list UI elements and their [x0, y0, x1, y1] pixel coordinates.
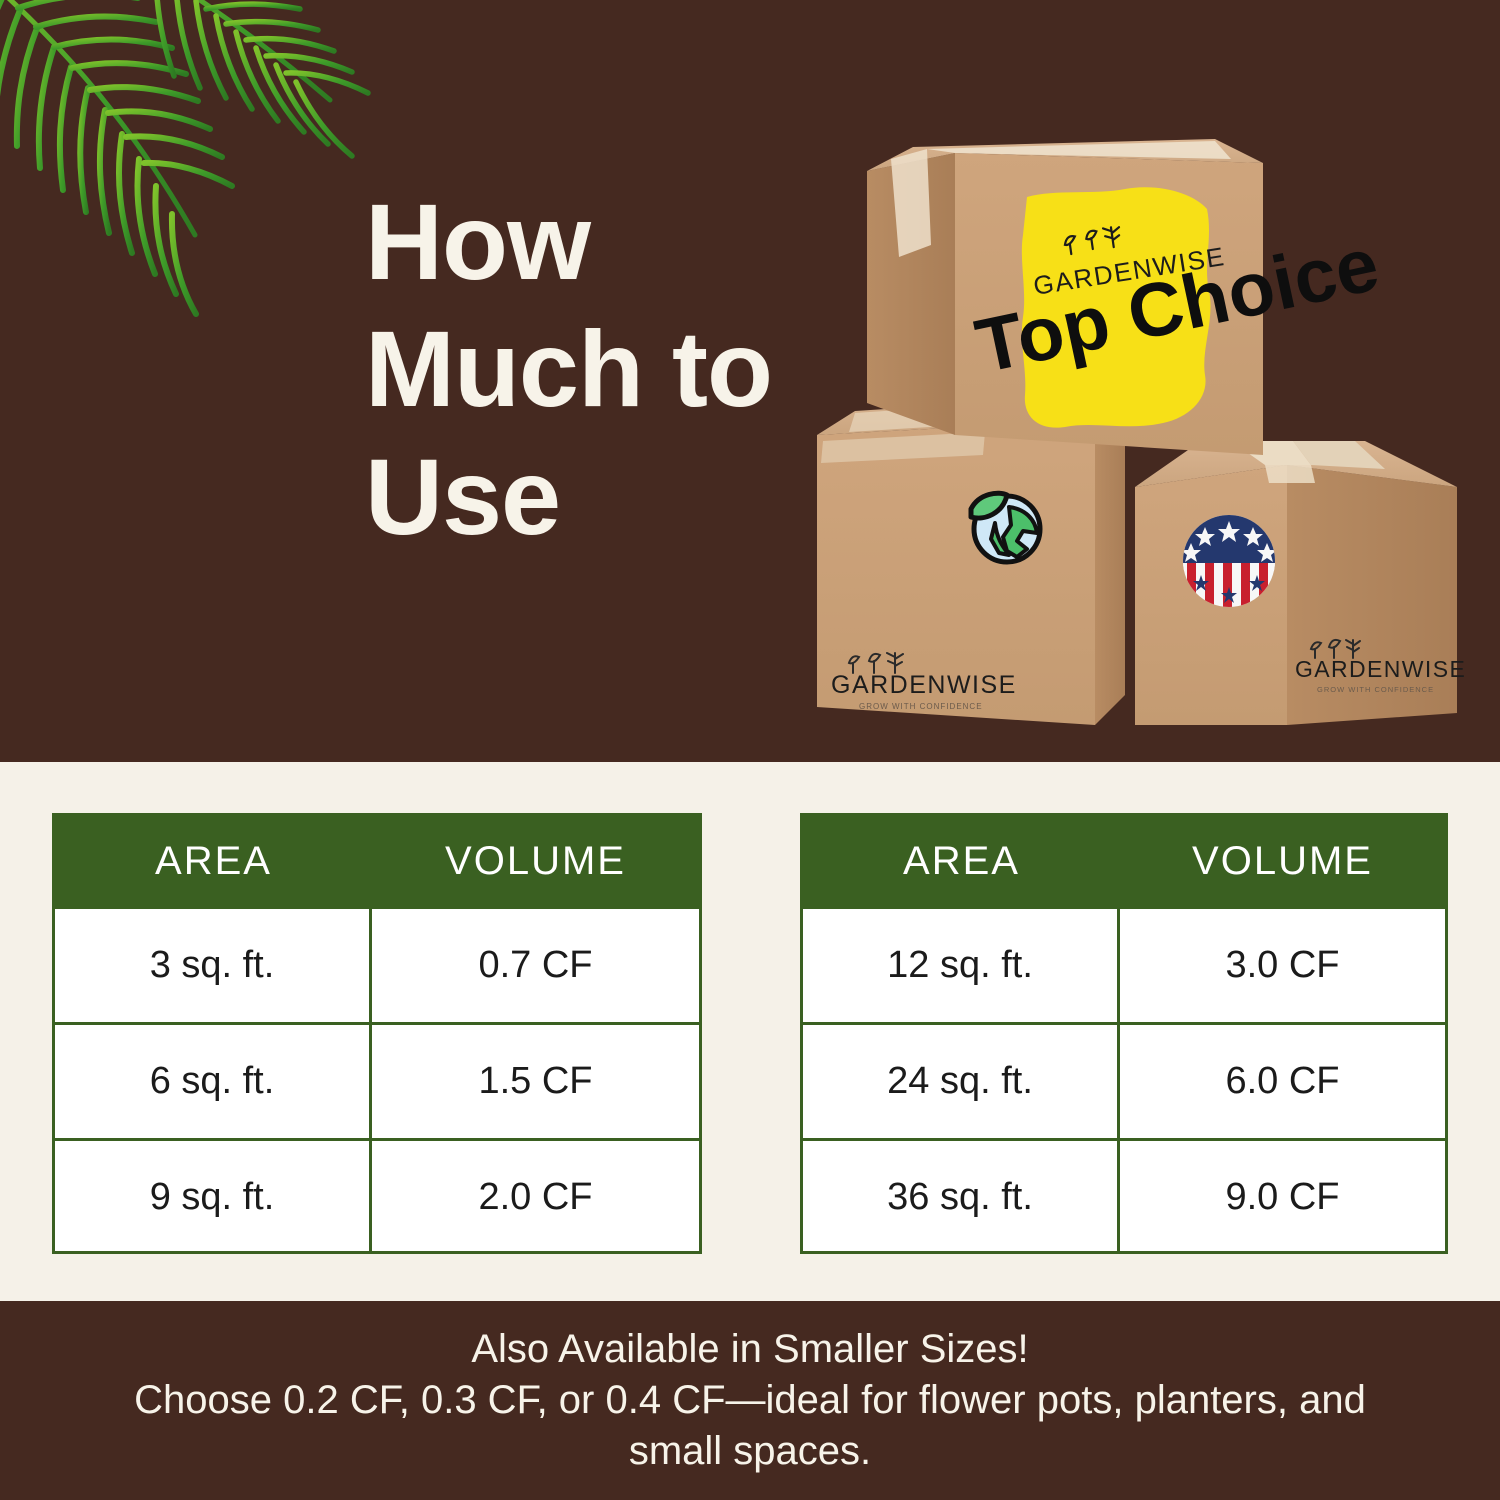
product-boxes-illustration: GARDENWISE GROW WITH CONFIDENCE [795, 135, 1485, 725]
cell-volume: 3.0 CF [1120, 909, 1445, 1022]
table-row: 24 sq. ft. 6.0 CF [803, 1022, 1445, 1138]
cell-area: 24 sq. ft. [803, 1025, 1120, 1138]
cell-volume: 1.5 CF [372, 1025, 699, 1138]
cell-area: 12 sq. ft. [803, 909, 1120, 1022]
footer-subtext: Choose 0.2 CF, 0.3 CF, or 0.4 CF—ideal f… [85, 1375, 1415, 1477]
earth-leaf-eco-icon [971, 493, 1040, 562]
cell-volume: 0.7 CF [372, 909, 699, 1022]
cell-area: 36 sq. ft. [803, 1141, 1120, 1254]
column-header-area: AREA [55, 816, 372, 906]
box-right: GARDENWISE GROW WITH CONFIDENCE [1135, 441, 1466, 725]
small-coverage-table: AREA VOLUME 3 sq. ft. 0.7 CF 6 sq. ft. 1… [52, 813, 702, 1254]
table-row: 12 sq. ft. 3.0 CF [803, 906, 1445, 1022]
cell-area: 6 sq. ft. [55, 1025, 372, 1138]
large-coverage-table: AREA VOLUME 12 sq. ft. 3.0 CF 24 sq. ft.… [800, 813, 1448, 1254]
title-line-2: Much to [365, 305, 785, 432]
column-header-area: AREA [803, 816, 1120, 906]
table-header-row: AREA VOLUME [55, 816, 699, 906]
table-row: 6 sq. ft. 1.5 CF [55, 1022, 699, 1138]
table-row: 3 sq. ft. 0.7 CF [55, 906, 699, 1022]
box-top: GARDENWISE Top Choice [867, 139, 1386, 455]
column-header-volume: VOLUME [1120, 816, 1445, 906]
table-row: 9 sq. ft. 2.0 CF [55, 1138, 699, 1254]
table-header-row: AREA VOLUME [803, 816, 1445, 906]
title-line-1: How [365, 178, 785, 305]
table-row: 36 sq. ft. 9.0 CF [803, 1138, 1445, 1254]
footer-banner: Also Available in Smaller Sizes! Choose … [0, 1301, 1500, 1500]
infographic-canvas: How Much to Use [0, 0, 1500, 1500]
footer-headline: Also Available in Smaller Sizes! [471, 1324, 1028, 1375]
page-title: How Much to Use [365, 178, 785, 560]
svg-text:GROW WITH CONFIDENCE: GROW WITH CONFIDENCE [1317, 685, 1434, 694]
title-line-3: Use [365, 433, 785, 560]
cell-volume: 6.0 CF [1120, 1025, 1445, 1138]
hero-section: How Much to Use [0, 0, 1500, 762]
cell-volume: 9.0 CF [1120, 1141, 1445, 1254]
cell-volume: 2.0 CF [372, 1141, 699, 1254]
cell-area: 3 sq. ft. [55, 909, 372, 1022]
svg-text:GARDENWISE: GARDENWISE [1295, 656, 1466, 682]
cell-area: 9 sq. ft. [55, 1141, 372, 1254]
svg-text:GARDENWISE: GARDENWISE [831, 671, 1017, 699]
svg-text:GROW WITH CONFIDENCE: GROW WITH CONFIDENCE [859, 702, 983, 711]
column-header-volume: VOLUME [372, 816, 699, 906]
